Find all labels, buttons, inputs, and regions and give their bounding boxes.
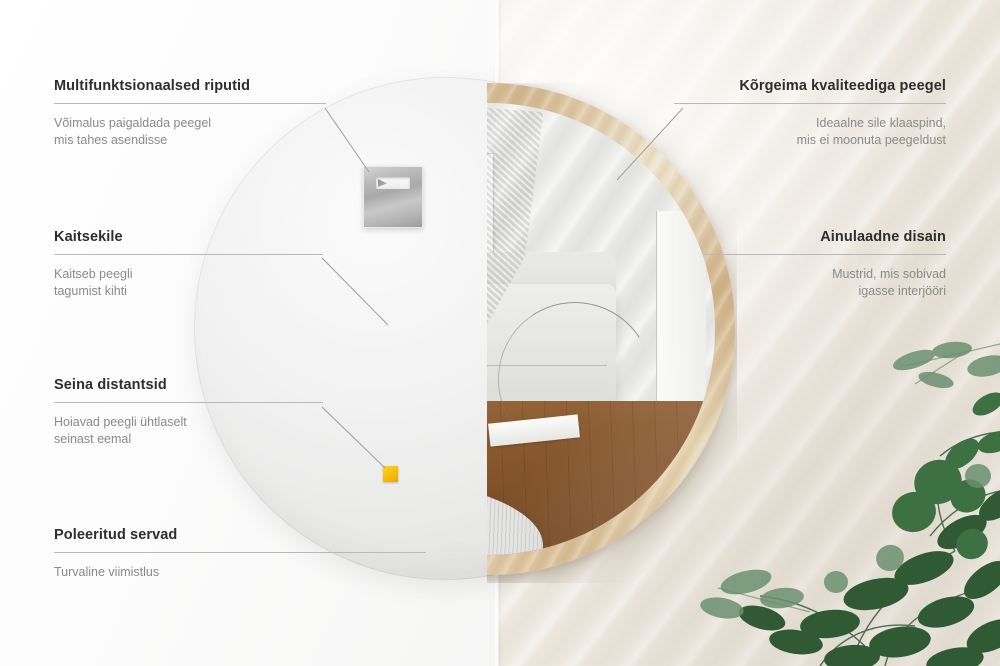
wall-spacer-yellow bbox=[383, 466, 398, 482]
hanger-plate bbox=[363, 166, 423, 228]
callout-quality-mirror-title: Kõrgeima kvaliteediga peegel bbox=[674, 78, 946, 94]
callout-unique-design-desc: Mustrid, mis sobivad igasse interjööri bbox=[705, 266, 946, 300]
callout-quality-mirror-desc: Ideaalne sile klaaspind, mis ei moonuta … bbox=[674, 115, 946, 149]
callout-quality-mirror: Kõrgeima kvaliteediga peegel Ideaalne si… bbox=[674, 78, 946, 149]
callout-quality-mirror-rule bbox=[674, 103, 946, 104]
callout-unique-design-rule bbox=[705, 254, 946, 255]
callout-protective-film-title: Kaitsekile bbox=[54, 229, 323, 245]
callout-hangers-desc: Võimalus paigaldada peegel mis tahes ase… bbox=[54, 115, 326, 149]
callout-polished-edges: Poleeritud servad Turvaline viimistlus bbox=[54, 527, 426, 581]
hanger-keyhole-icon bbox=[376, 177, 410, 189]
callout-wall-spacers-desc: Hoiavad peegli ühtlaselt seinast eemal bbox=[54, 414, 323, 448]
callout-wall-spacers: Seina distantsid Hoiavad peegli ühtlasel… bbox=[54, 377, 323, 448]
callout-unique-design: Ainulaadne disain Mustrid, mis sobivad i… bbox=[705, 229, 946, 300]
callout-hangers-rule bbox=[54, 103, 326, 104]
callout-polished-edges-desc: Turvaline viimistlus bbox=[54, 564, 426, 581]
callout-unique-design-title: Ainulaadne disain bbox=[705, 229, 946, 245]
room-reflection bbox=[487, 103, 715, 555]
callout-wall-spacers-title: Seina distantsid bbox=[54, 377, 323, 393]
callout-polished-edges-rule bbox=[54, 552, 426, 553]
callout-hangers: Multifunktsionaalsed riputid Võimalus pa… bbox=[54, 78, 326, 149]
product-infographic: Multifunktsionaalsed riputid Võimalus pa… bbox=[0, 0, 1000, 666]
callout-polished-edges-title: Poleeritud servad bbox=[54, 527, 426, 543]
callout-wall-spacers-rule bbox=[54, 402, 323, 403]
callout-protective-film-desc: Kaitseb peegli tagumist kihti bbox=[54, 266, 323, 300]
wood-frame bbox=[487, 83, 735, 575]
callout-protective-film-rule bbox=[54, 254, 323, 255]
callout-protective-film: Kaitsekile Kaitseb peegli tagumist kihti bbox=[54, 229, 323, 300]
framed-mirror bbox=[487, 83, 737, 583]
callout-hangers-title: Multifunktsionaalsed riputid bbox=[54, 78, 326, 94]
mirror-glass bbox=[487, 103, 715, 555]
